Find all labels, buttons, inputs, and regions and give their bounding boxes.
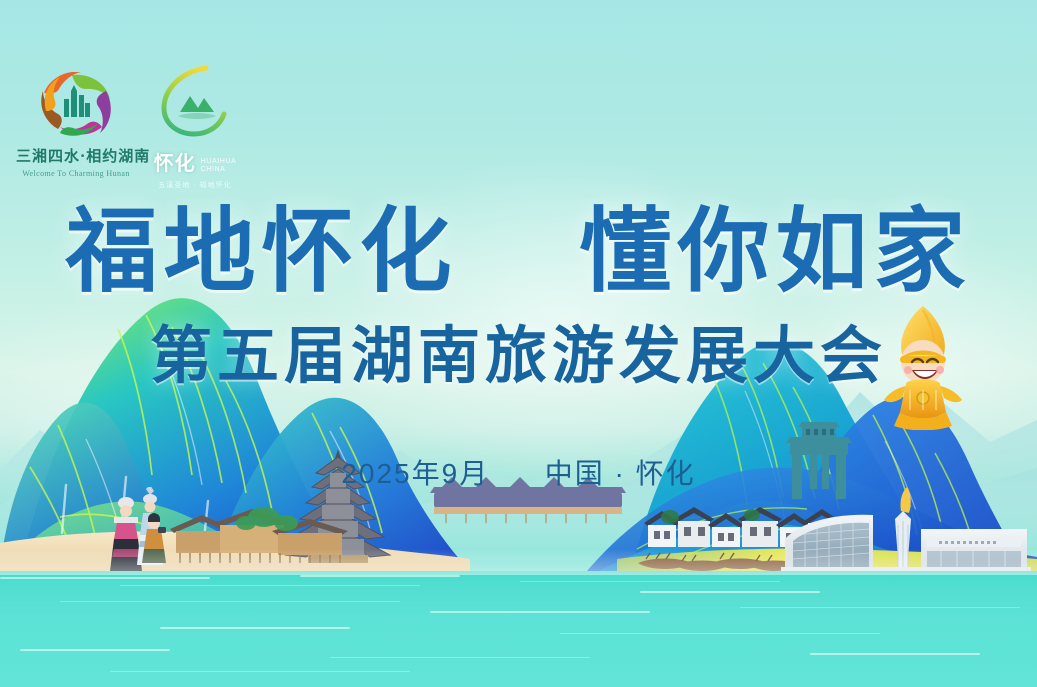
hunan-logo-english: Welcome To Charming Hunan	[16, 169, 136, 178]
page-subtitle: 第五届湖南旅游发展大会	[0, 325, 1037, 387]
event-meta: 2025年9月 中国 · 怀化	[0, 452, 1037, 492]
left-mountain-cluster	[0, 271, 470, 571]
ethnic-costume-figures	[104, 487, 184, 577]
hunan-logo-chinese: 三湘四水·相约湖南	[16, 145, 136, 166]
huaihua-logo-english: HUAIHUA CHINA	[201, 158, 237, 176]
huaihua-logo-chinese: 怀化	[154, 147, 196, 176]
hongjiang-ancient-town	[640, 497, 840, 561]
huaihua-logo-tagline: 五溪圣地 · 福地怀化	[140, 180, 250, 190]
huaihua-leaf-icon	[140, 62, 250, 142]
huaihua-name-row: 怀化 HUAIHUA CHINA	[140, 147, 250, 176]
page-title: 福地怀化 懂你如家	[0, 205, 1037, 297]
water-surface	[0, 571, 1037, 687]
convention-center	[781, 485, 1031, 575]
event-location: 中国 · 怀化	[545, 458, 696, 489]
left-sand-shore	[0, 509, 470, 579]
huaihua-english-line1: HUAIHUA	[201, 158, 237, 166]
title-part-1: 福地怀化	[65, 197, 457, 305]
hunan-tourism-logo[interactable]: 三湘四水·相约湖南 Welcome To Charming Hunan	[16, 72, 136, 178]
event-date: 2025年9月	[341, 458, 489, 489]
poster-canvas: 福地怀化 懂你如家 第五届湖南旅游发展大会 2025年9月 中国 · 怀化	[0, 0, 1037, 687]
hunan-swirl-icon	[16, 72, 136, 138]
title-part-2: 懂你如家	[580, 197, 972, 305]
huaihua-city-logo[interactable]: 怀化 HUAIHUA CHINA 五溪圣地 · 福地怀化	[140, 62, 250, 190]
stilt-village-houses	[168, 499, 368, 569]
right-wave-ridges	[577, 413, 1037, 583]
huaihua-english-line2: CHINA	[201, 166, 237, 174]
